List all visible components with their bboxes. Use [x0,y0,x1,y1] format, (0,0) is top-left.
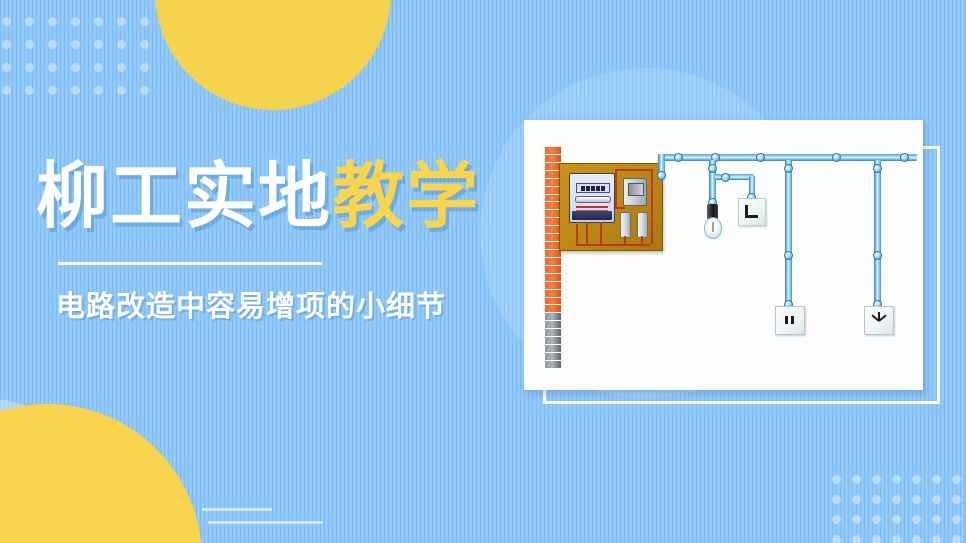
circuit-breaker-icon [623,178,647,206]
poster-canvas: 柳工实地教学 电路改造中容易增项的小细节 [0,0,966,543]
conduit-node-4 [756,153,765,162]
socket-slot-left [785,316,788,324]
meter-terminal-cover [572,211,612,220]
switch-branch-node [721,173,730,182]
conduit-socket1-drop [785,160,792,305]
meter-display [576,183,610,193]
conduit-socket2-drop [874,160,881,305]
dot-grid-bottom-right [832,475,966,543]
fuse-holder-right-icon [637,212,648,238]
socket-two-pin-icon [775,306,805,335]
headline-block: 柳工实地教学 [36,161,506,233]
board-wire-3 [600,222,602,246]
conduit-node-1 [657,171,666,180]
board-wire-8 [615,207,625,209]
socket1-node-top [784,164,793,173]
electricity-meter-icon [569,173,615,223]
board-wire-1 [576,224,578,246]
switch-rocker [745,205,758,218]
page-title: 柳工实地教学 [36,161,506,233]
decorative-rule-lower [208,521,323,524]
lamp-drop-node-top [708,164,717,173]
board-wire-10 [641,236,643,246]
breaker-lever [628,183,644,196]
dot-grid-top-left [2,17,163,109]
board-wire-4 [576,244,650,246]
conduit-node-6 [900,153,909,162]
board-wire-5 [615,169,617,209]
board-wire-9 [624,236,626,246]
page-title-accent: 教学 [332,157,480,237]
page-title-main: 柳工实地 [36,157,332,237]
socket-slot-right [791,316,794,324]
meter-nameplate [575,196,611,203]
board-wire-6 [615,169,653,171]
fuse-holder-left-icon [620,212,631,238]
decorative-rule-upper [202,508,272,511]
socket2-node-top [873,164,882,173]
board-wire-2 [586,222,588,246]
light-bulb-icon [704,217,722,239]
conduit-node-2 [674,153,683,162]
wall-switch-icon [738,198,766,226]
conduit-node-5 [832,153,841,162]
socket2-node-mid [873,251,882,260]
illustration-panel [524,120,923,390]
socket-three-pin-icon [864,306,894,335]
meter-label-line-1 [576,206,608,208]
distribution-board [559,163,663,251]
board-wire-7 [651,169,653,244]
socket1-node-mid [784,251,793,260]
page-subtitle: 电路改造中容易增项的小细节 [56,283,446,325]
title-divider [58,262,322,265]
